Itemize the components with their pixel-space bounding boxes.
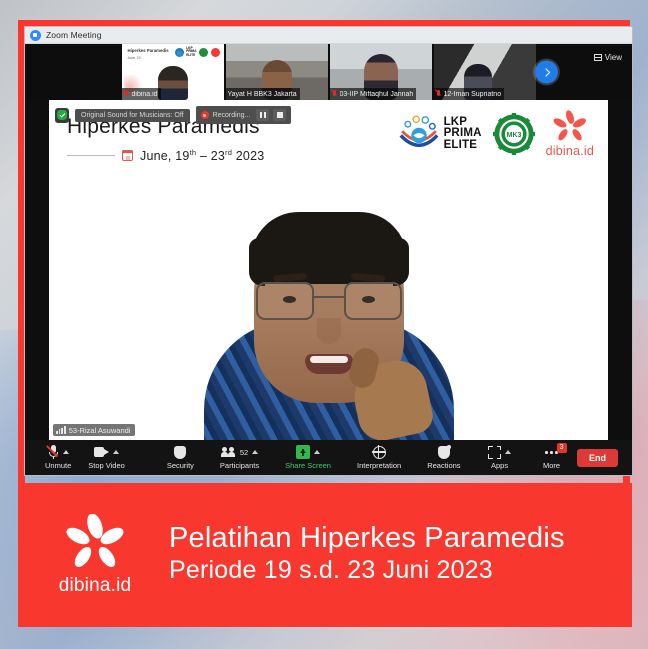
- bottom-banner: dibina.id Pelatihan Hiperkes Paramedis P…: [25, 483, 632, 627]
- banner-text: Pelatihan Hiperkes Paramedis Periode 19 …: [169, 522, 565, 587]
- banner-subtitle: Periode 19 s.d. 23 Juni 2023: [169, 556, 565, 584]
- toolbar-label: Security: [167, 461, 194, 470]
- meeting-toolbar: Unmute Stop Video Security: [25, 440, 632, 475]
- toolbar-label: Share Screen: [285, 461, 331, 470]
- original-sound-chip[interactable]: Original Sound for Musicians: Off: [75, 109, 190, 122]
- participant-name: Yayat H BBK3 Jakarta: [228, 91, 297, 98]
- share-screen-button[interactable]: Share Screen: [281, 445, 335, 471]
- stop-icon[interactable]: [273, 109, 286, 121]
- toolbar-icon-row: [438, 445, 450, 460]
- slide-logo-row: LKPPRIMAELITE MK3: [398, 110, 594, 158]
- slide-date-rule: [67, 155, 115, 156]
- banner-title: Pelatihan Hiperkes Paramedis: [169, 522, 565, 554]
- reactions-icon: [438, 446, 450, 459]
- globe-icon: [373, 446, 386, 459]
- video-camera-icon: [94, 447, 109, 457]
- toolbar-right-group: End: [577, 449, 624, 467]
- microphone-muted-icon: [332, 90, 338, 99]
- speaker-mouth: [305, 354, 353, 374]
- lkp-prima-elite-logo: LKPPRIMAELITE: [398, 114, 482, 154]
- toolbar-label: Stop Video: [88, 461, 125, 470]
- active-speaker-name-badge: 53-Rizal Asuwandi: [53, 424, 135, 436]
- eyeglasses-icon: [256, 282, 402, 322]
- shared-screen-slide[interactable]: Hiperkes Paramedis June, 19th – 23rd 202…: [49, 100, 608, 440]
- end-meeting-button[interactable]: End: [577, 449, 618, 467]
- participant-thumbnail[interactable]: Yayat H BBK3 Jakarta: [226, 44, 328, 100]
- recording-controls: [256, 109, 286, 121]
- thumbnail-logos: LKPPRIMAELITE: [175, 47, 220, 57]
- toolbar-left-group: Unmute Stop Video: [41, 445, 129, 471]
- dibina-asterisk-icon: [65, 514, 125, 570]
- microphone-muted-icon: [124, 90, 130, 99]
- thumbnail-namebar: Yayat H BBK3 Jakarta: [226, 88, 300, 100]
- chevron-up-icon[interactable]: [314, 450, 320, 454]
- toolbar-label: More: [543, 461, 560, 470]
- toolbar-label: Unmute: [45, 461, 71, 470]
- recording-label: Recording...: [213, 112, 251, 119]
- view-button-label: View: [605, 53, 622, 62]
- lkp-swoosh-icon: [398, 114, 440, 154]
- pause-icon[interactable]: [256, 109, 269, 121]
- toolbar-icon-row: [94, 445, 119, 460]
- dibina-asterisk-icon: [552, 110, 588, 143]
- mk3-gear-logo: [199, 48, 208, 57]
- window-titlebar: Zoom Meeting: [25, 27, 632, 44]
- reactions-button[interactable]: Reactions: [423, 445, 464, 471]
- thumbnail-slide-date: June, 19: [128, 56, 141, 60]
- toolbar-icon-row: [48, 445, 69, 460]
- participants-count: 52: [240, 448, 248, 457]
- chevron-up-icon[interactable]: [113, 450, 119, 454]
- dibina-id-logo: dibina.id: [546, 110, 594, 158]
- security-status-button[interactable]: [55, 108, 69, 123]
- security-button[interactable]: Security: [163, 445, 198, 471]
- dibina-id-text: dibina.id: [546, 144, 594, 158]
- apps-button[interactable]: Apps: [483, 445, 517, 471]
- toolbar-icon-row: 52: [221, 445, 258, 460]
- next-page-button[interactable]: [535, 61, 558, 84]
- recording-chip: Recording...: [196, 106, 292, 124]
- participant-thumbnail[interactable]: Hiperkes Paramedis June, 19 LKPPRIMAELIT…: [122, 44, 224, 100]
- window-title: Zoom Meeting: [46, 30, 102, 40]
- zoom-camera-icon: [30, 30, 41, 41]
- toolbar-label: Reactions: [427, 461, 460, 470]
- more-badge: 3: [557, 443, 567, 453]
- svg-text:MK3: MK3: [506, 132, 521, 139]
- lens-right: [344, 282, 402, 320]
- toolbar-icon-row: [488, 445, 511, 460]
- participant-name: 12-Iman Supriatno: [444, 91, 502, 98]
- view-button[interactable]: View: [594, 53, 622, 62]
- lkp-prima-elite-text: LKPPRIMAELITE: [444, 117, 482, 152]
- lkp-prima-elite-logo: [175, 48, 184, 57]
- signal-bars-icon: [56, 426, 66, 434]
- apps-icon: [488, 446, 501, 459]
- dibina-id-logo: [211, 48, 220, 57]
- thumbnail-slide-title: Hiperkes Paramedis: [128, 48, 169, 53]
- zoom-meeting-window: Zoom Meeting Hiperkes Paramedis June, 19…: [25, 27, 632, 475]
- chevron-right-icon: [541, 68, 549, 76]
- microphone-muted-icon: [436, 90, 442, 99]
- chevron-up-icon[interactable]: [505, 450, 511, 454]
- speaker-nose: [317, 318, 341, 344]
- thumbnail-person: [158, 66, 188, 100]
- lens-bridge: [314, 296, 344, 298]
- toolbar-label: Apps: [491, 461, 508, 470]
- toolbar-label: Interpretation: [357, 461, 401, 470]
- more-button[interactable]: 3 More: [535, 445, 569, 471]
- chevron-up-icon[interactable]: [63, 450, 69, 454]
- unmute-button[interactable]: Unmute: [41, 445, 75, 471]
- mk3-gear-logo: MK3: [493, 113, 535, 155]
- chevron-up-icon[interactable]: [252, 450, 258, 454]
- participant-name: dibina.id: [132, 91, 158, 98]
- microphone-muted-icon: [48, 445, 59, 459]
- thumbnail-namebar: 12-Iman Supriatno: [434, 88, 505, 100]
- stage-overlay-chips: Original Sound for Musicians: Off Record…: [55, 106, 291, 124]
- banner-logo: dibina.id: [47, 514, 143, 597]
- slide-date-row: June, 19th – 23rd 2023: [67, 148, 264, 163]
- screenshot-root: Zoom Meeting Hiperkes Paramedis June, 19…: [0, 0, 648, 649]
- participant-thumbnail-strip: Hiperkes Paramedis June, 19 LKPPRIMAELIT…: [25, 44, 632, 100]
- lens-left: [256, 282, 314, 320]
- main-video-stage: Hiperkes Paramedis June, 19th – 23rd 202…: [25, 100, 632, 440]
- calendar-icon: [122, 150, 133, 161]
- share-screen-icon: [296, 445, 310, 459]
- participant-name: 03-IIP Miftaqhul Jannah: [340, 91, 414, 98]
- shield-check-icon: [57, 110, 67, 120]
- shield-icon: [174, 446, 186, 459]
- lkp-text: LKPPRIMAELITE: [186, 47, 196, 57]
- thumbnail-namebar: 03-IIP Miftaqhul Jannah: [330, 88, 417, 100]
- toolbar-icon-row: [296, 445, 320, 460]
- record-dot-icon: [201, 111, 209, 119]
- participant-thumbnail[interactable]: 03-IIP Miftaqhul Jannah: [330, 44, 432, 100]
- active-speaker-name: 53-Rizal Asuwandi: [69, 426, 131, 435]
- banner-logo-text: dibina.id: [59, 575, 132, 597]
- speaker-hair: [251, 212, 407, 284]
- participant-thumbnail[interactable]: 12-Iman Supriatno: [434, 44, 536, 100]
- participants-button[interactable]: 52 Participants: [216, 445, 263, 471]
- stop-video-button[interactable]: Stop Video: [84, 445, 129, 471]
- toolbar-icon-row: [373, 445, 386, 460]
- toolbar-label: Participants: [220, 461, 259, 470]
- active-speaker-video: [49, 186, 608, 440]
- interpretation-button[interactable]: Interpretation: [353, 445, 405, 471]
- toolbar-icon-row: [174, 445, 186, 460]
- grid-view-icon: [594, 54, 602, 61]
- toolbar-center-group: Security 52 Participants: [163, 445, 569, 471]
- slide-date: June, 19th – 23rd 2023: [140, 148, 264, 163]
- thumbnail-namebar: dibina.id: [122, 88, 161, 100]
- people-icon: [221, 447, 236, 457]
